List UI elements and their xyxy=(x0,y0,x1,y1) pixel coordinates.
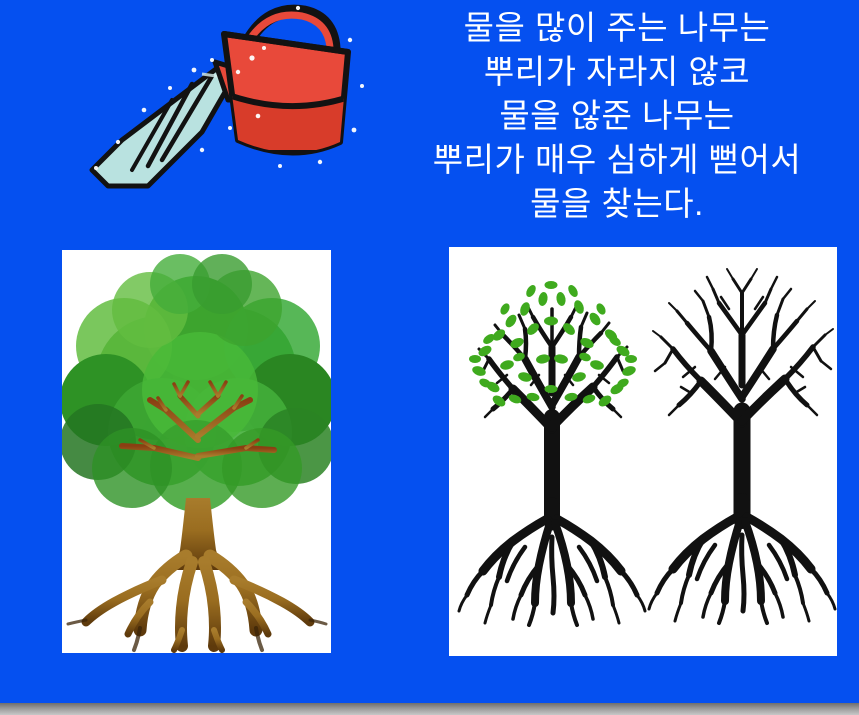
heading-text-block: 물을 많이 주는 나무는 뿌리가 자라지 않코 물을 않준 나무는 뿌리가 매우… xyxy=(378,6,856,226)
heading-line-2: 뿌리가 자라지 않코 xyxy=(378,50,856,94)
heading-line-4: 뿌리가 매우 심하게 뻗어서 xyxy=(378,138,856,182)
heading-line-5: 물을 찾는다. xyxy=(378,182,856,226)
slide-canvas: 물을 많이 주는 나무는 뿌리가 자라지 않코 물을 않준 나무는 뿌리가 매우… xyxy=(0,0,859,715)
watering-can-illustration xyxy=(52,0,392,195)
watering-can-body xyxy=(220,34,352,153)
bottom-edge-strip xyxy=(0,703,859,715)
image-panel-two-trees xyxy=(449,247,837,656)
heading-line-3: 물을 않준 나무는 xyxy=(378,94,856,138)
water-stream-shape xyxy=(92,66,232,186)
image-panel-green-tree xyxy=(62,250,331,653)
heading-line-1: 물을 많이 주는 나무는 xyxy=(378,6,856,50)
